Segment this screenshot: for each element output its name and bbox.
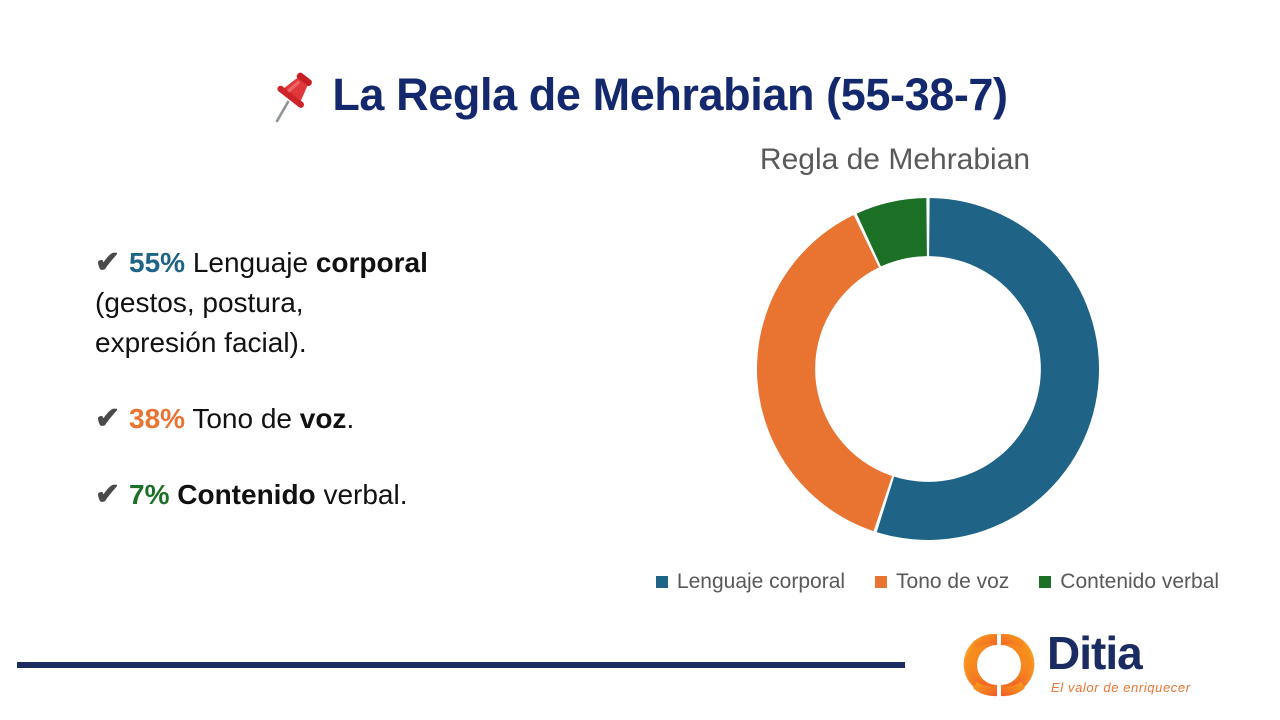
donut-segment bbox=[757, 215, 892, 531]
bullet-text-lead: Lenguaje bbox=[185, 247, 316, 278]
bullet-percent: 55% bbox=[129, 247, 185, 278]
check-mark-icon: ✔ bbox=[95, 399, 129, 439]
legend-label: Lenguaje corporal bbox=[677, 570, 845, 594]
bullet-percent: 7% bbox=[129, 479, 169, 510]
donut-chart-plot bbox=[755, 196, 1101, 542]
page-title: La Regla de Mehrabian (55-38-7) bbox=[332, 72, 1007, 117]
chart-title: Regla de Mehrabian bbox=[615, 138, 1175, 182]
check-mark-icon: ✔ bbox=[95, 475, 129, 515]
brand-name: Ditia bbox=[1047, 630, 1142, 676]
legend-label: Contenido verbal bbox=[1060, 570, 1219, 594]
legend-item[interactable]: Tono de voz bbox=[875, 570, 1009, 594]
bullet-extra-line: (gestos, postura, bbox=[95, 287, 304, 318]
check-mark-icon: ✔ bbox=[95, 243, 129, 283]
legend-swatch-icon bbox=[1039, 576, 1051, 588]
legend-swatch-icon bbox=[875, 576, 887, 588]
footer-divider bbox=[17, 662, 905, 668]
bullet-list: ✔55% Lenguaje corporal (gestos, postura,… bbox=[95, 243, 615, 515]
bullet-text-tail: . bbox=[346, 403, 354, 434]
chart-legend: Lenguaje corporalTono de vozContenido ve… bbox=[595, 570, 1280, 594]
bullet-text-bold: corporal bbox=[316, 247, 428, 278]
brand-tagline: El valor de enriquecer bbox=[1051, 680, 1191, 695]
legend-item[interactable]: Contenido verbal bbox=[1039, 570, 1219, 594]
ditia-logo-mark-icon bbox=[960, 632, 1038, 698]
bullet-text-lead: Tono de bbox=[185, 403, 300, 434]
legend-item[interactable]: Lenguaje corporal bbox=[656, 570, 845, 594]
legend-label: Tono de voz bbox=[896, 570, 1009, 594]
pushpin-icon bbox=[272, 68, 318, 124]
brand-logo: Ditia El valor de enriquecer bbox=[955, 628, 1195, 714]
list-item: ✔7% Contenido verbal. bbox=[95, 475, 615, 515]
bullet-percent: 38% bbox=[129, 403, 185, 434]
donut-chart: Regla de Mehrabian Lenguaje corporalTono… bbox=[595, 138, 1280, 608]
bullet-extra-line: expresión facial). bbox=[95, 327, 307, 358]
list-item: ✔55% Lenguaje corporal (gestos, postura,… bbox=[95, 243, 615, 363]
bullet-text-bold: voz bbox=[300, 403, 347, 434]
bullet-text-tail: verbal. bbox=[316, 479, 408, 510]
legend-swatch-icon bbox=[656, 576, 668, 588]
list-item: ✔38% Tono de voz. bbox=[95, 399, 615, 439]
slide-title-row: La Regla de Mehrabian (55-38-7) bbox=[0, 66, 1280, 122]
bullet-text-bold: Contenido bbox=[177, 479, 315, 510]
slide-canvas: La Regla de Mehrabian (55-38-7) ✔55% Len… bbox=[0, 0, 1280, 720]
